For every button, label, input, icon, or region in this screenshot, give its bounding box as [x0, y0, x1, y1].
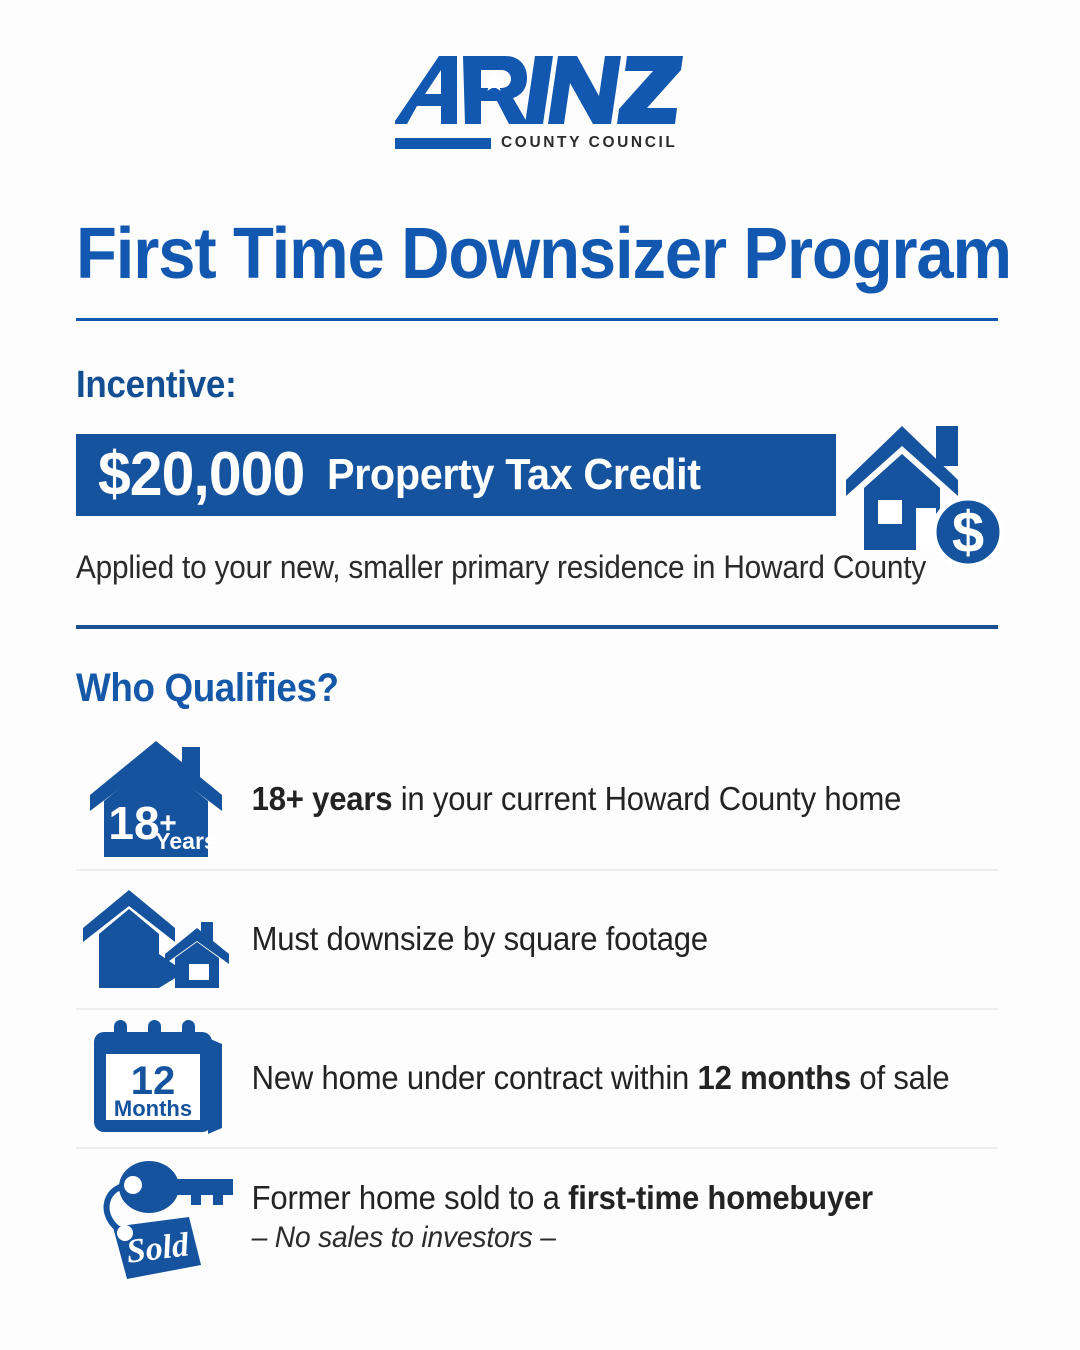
logo-rule-bar [395, 138, 491, 149]
incentive-amount: $20,000 [98, 444, 304, 506]
list-item-text: New home under contract within 12 months… [246, 1058, 953, 1098]
logo-subtitle-row: COUNTY COUNCIL [395, 134, 685, 152]
list-item-rest: in your current Howard County home [392, 780, 901, 817]
logo-subtitle: COUNTY COUNCIL [501, 134, 677, 152]
downsize-houses-arrow-icon [76, 877, 246, 1002]
calendar-12-months-icon: 12 Months [76, 1016, 246, 1141]
list-item-bold-tail: first-time homebuyer [568, 1179, 873, 1216]
page-title: First Time Downsizer Program [76, 218, 941, 290]
incentive-note: Applied to your new, smaller primary res… [76, 549, 926, 586]
list-item-lead: Former home sold to a [252, 1179, 569, 1216]
list-item-text: Must downsize by square footage [246, 919, 953, 959]
section-divider [76, 625, 998, 629]
list-item-text: Former home sold to a first-time homebuy… [246, 1178, 953, 1257]
list-item-bold-lead: 18+ years [252, 780, 393, 817]
list-item: Must downsize by square footage [76, 869, 998, 1008]
list-item-subtext: – No sales to investors – [252, 1220, 953, 1257]
svg-text:$: $ [952, 500, 984, 565]
incentive-label: Property Tax Credit [327, 453, 701, 497]
incentive-heading: Incentive: [76, 364, 236, 407]
svg-text:18: 18 [108, 797, 159, 849]
list-item: 12 Months New home under contract within… [76, 1008, 998, 1147]
list-item: 18 + Years 18+ years in your current How… [76, 730, 998, 869]
svg-text:Years: Years [155, 828, 216, 854]
key-sold-tag-icon: Sold [76, 1155, 246, 1280]
list-item-lead: New home under contract within [252, 1059, 698, 1096]
list-item-tail: of sale [851, 1059, 950, 1096]
house-years-icon: 18 + Years [76, 737, 246, 862]
title-divider [76, 318, 998, 321]
infographic-page: COUNTY COUNCIL First Time Downsizer Prog… [0, 0, 1080, 1350]
qualifies-heading: Who Qualifies? [76, 666, 339, 711]
svg-text:Sold: Sold [125, 1226, 192, 1270]
list-item-bold-tail: 12 months [698, 1059, 851, 1096]
svg-text:Months: Months [114, 1096, 192, 1121]
qualify-list: 18 + Years 18+ years in your current How… [76, 730, 998, 1286]
list-item-text: 18+ years in your current Howard County … [246, 779, 953, 819]
logo-wordmark-arinze [395, 52, 685, 130]
brand-logo: COUNTY COUNCIL [0, 52, 1080, 152]
incentive-banner: $20,000 Property Tax Credit [76, 434, 836, 516]
list-item: Sold Former home sold to a first-time ho… [76, 1147, 998, 1286]
